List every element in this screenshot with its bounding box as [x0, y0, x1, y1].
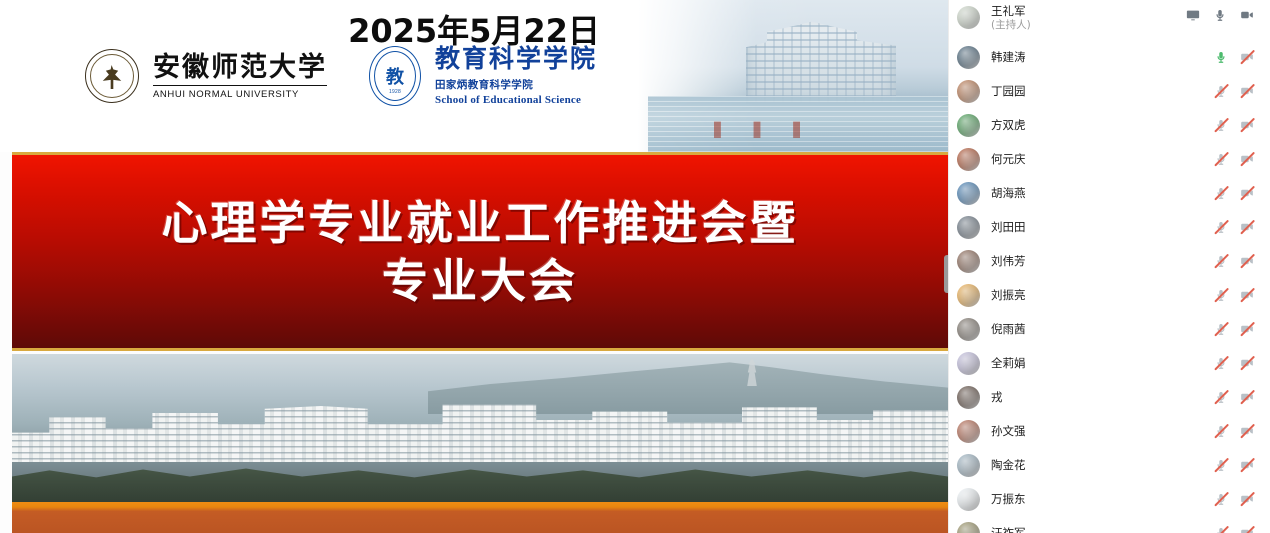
participant-controls — [1214, 220, 1254, 234]
microphone-icon[interactable] — [1214, 492, 1228, 506]
avatar — [957, 352, 980, 375]
video-camera-icon[interactable] — [1240, 526, 1254, 533]
participant-name-block: 全莉娟 — [991, 356, 1214, 370]
slide-date: 2025年5月22日 — [0, 6, 948, 52]
participant-name-block: 陶金花 — [991, 458, 1214, 472]
participant-name-block: 倪雨茜 — [991, 322, 1214, 336]
video-camera-icon[interactable] — [1240, 356, 1254, 370]
college-logo: 教 1928 教育科学学院 田家炳教育科学学院 School of Educat… — [369, 46, 597, 106]
microphone-icon[interactable] — [1214, 84, 1228, 98]
participant-name: 韩建涛 — [991, 50, 1214, 64]
participant-row[interactable]: 何元庆 — [949, 142, 1270, 176]
participant-row[interactable]: 陶金花 — [949, 448, 1270, 482]
participant-row[interactable]: 刘田田 — [949, 210, 1270, 244]
participant-controls — [1214, 152, 1254, 166]
participant-controls — [1214, 118, 1254, 132]
video-camera-icon[interactable] — [1240, 322, 1254, 336]
university-seal-icon — [85, 49, 139, 103]
participant-row[interactable]: 汪祚军 — [949, 516, 1270, 533]
avatar — [957, 420, 980, 443]
microphone-icon[interactable] — [1214, 356, 1228, 370]
video-camera-icon[interactable] — [1240, 220, 1254, 234]
meeting-screen: 安徽师范大学 ANHUI NORMAL UNIVERSITY 教 1928 教育… — [0, 0, 1270, 533]
microphone-icon[interactable] — [1214, 526, 1228, 533]
participant-name: 万振东 — [991, 492, 1214, 506]
participant-controls — [1186, 8, 1254, 22]
participant-row[interactable]: 孙文强 — [949, 414, 1270, 448]
university-name-cn: 安徽师范大学 — [153, 52, 327, 85]
participant-controls — [1214, 186, 1254, 200]
microphone-icon[interactable] — [1214, 288, 1228, 302]
participant-name-block: 方双虎 — [991, 118, 1214, 132]
avatar — [957, 80, 980, 103]
avatar — [957, 488, 980, 511]
microphone-icon[interactable] — [1214, 254, 1228, 268]
avatar — [957, 318, 980, 341]
avatar — [957, 454, 980, 477]
college-sub-cn: 田家炳教育科学学院 — [435, 77, 597, 92]
participant-name-block: 韩建涛 — [991, 50, 1214, 64]
video-camera-icon[interactable] — [1240, 118, 1254, 132]
participant-name: 王礼军 — [991, 4, 1186, 18]
participant-name: 胡海燕 — [991, 186, 1214, 200]
participant-row[interactable]: 刘伟芳 — [949, 244, 1270, 278]
participant-name-block: 刘田田 — [991, 220, 1214, 234]
participant-name: 何元庆 — [991, 152, 1214, 166]
avatar — [957, 386, 980, 409]
participant-row[interactable]: 胡海燕 — [949, 176, 1270, 210]
participant-row[interactable]: 戎 — [949, 380, 1270, 414]
microphone-icon[interactable] — [1214, 50, 1228, 64]
microphone-icon[interactable] — [1214, 118, 1228, 132]
participant-name: 孙文强 — [991, 424, 1214, 438]
collapse-panel-handle[interactable]: ‹ — [944, 255, 948, 293]
participant-name: 倪雨茜 — [991, 322, 1214, 336]
avatar — [957, 250, 980, 273]
participant-name-block: 孙文强 — [991, 424, 1214, 438]
college-seal-icon: 教 1928 — [369, 46, 421, 106]
participant-row[interactable]: 全莉娟 — [949, 346, 1270, 380]
video-camera-icon[interactable] — [1240, 254, 1254, 268]
microphone-icon[interactable] — [1214, 390, 1228, 404]
participant-name: 汪祚军 — [991, 526, 1214, 533]
video-camera-icon[interactable] — [1240, 424, 1254, 438]
avatar — [957, 6, 980, 29]
participant-name-block: 刘伟芳 — [991, 254, 1214, 268]
video-camera-icon[interactable] — [1240, 8, 1254, 22]
participant-controls — [1214, 424, 1254, 438]
avatar — [957, 46, 980, 69]
presentation-slide: 安徽师范大学 ANHUI NORMAL UNIVERSITY 教 1928 教育… — [0, 0, 948, 533]
participant-row[interactable]: 丁园园 — [949, 74, 1270, 108]
participant-name-block: 何元庆 — [991, 152, 1214, 166]
microphone-icon[interactable] — [1213, 8, 1227, 22]
participant-controls — [1214, 526, 1254, 533]
avatar — [957, 114, 980, 137]
slide-campus-photo — [12, 354, 948, 502]
participants-panel[interactable]: 王礼军(主持人)韩建涛丁园园方双虎何元庆胡海燕刘田田刘伟芳刘振亮倪雨茜全莉娟戎孙… — [948, 0, 1270, 533]
participant-row[interactable]: 刘振亮 — [949, 278, 1270, 312]
participant-controls — [1214, 322, 1254, 336]
participant-name-block: 王礼军(主持人) — [991, 4, 1186, 33]
share-screen-icon[interactable] — [1186, 8, 1200, 22]
avatar — [957, 284, 980, 307]
participant-name: 刘田田 — [991, 220, 1214, 234]
video-camera-icon[interactable] — [1240, 152, 1254, 166]
video-camera-icon[interactable] — [1240, 492, 1254, 506]
seal-emblem-icon — [101, 65, 123, 89]
shared-screen-stage[interactable]: 安徽师范大学 ANHUI NORMAL UNIVERSITY 教 1928 教育… — [0, 0, 948, 533]
video-camera-icon[interactable] — [1240, 50, 1254, 64]
college-seal-year: 1928 — [389, 89, 401, 95]
avatar — [957, 216, 980, 239]
video-camera-icon[interactable] — [1240, 186, 1254, 200]
microphone-icon[interactable] — [1214, 322, 1228, 336]
microphone-icon[interactable] — [1214, 424, 1228, 438]
participant-name: 刘伟芳 — [991, 254, 1214, 268]
participant-row[interactable]: 万振东 — [949, 482, 1270, 516]
video-camera-icon[interactable] — [1240, 458, 1254, 472]
participant-controls — [1214, 458, 1254, 472]
participant-name-block: 胡海燕 — [991, 186, 1214, 200]
participant-name-block: 汪祚军 — [991, 526, 1214, 533]
participant-controls — [1214, 288, 1254, 302]
video-camera-icon[interactable] — [1240, 84, 1254, 98]
college-name-en: School of Educational Science — [435, 94, 597, 106]
avatar — [957, 522, 980, 533]
campus-treeline — [12, 458, 948, 502]
microphone-icon[interactable] — [1214, 220, 1228, 234]
participant-controls — [1214, 254, 1254, 268]
microphone-icon[interactable] — [1214, 458, 1228, 472]
participant-controls — [1214, 84, 1254, 98]
university-logo: 安徽师范大学 ANHUI NORMAL UNIVERSITY — [85, 49, 327, 103]
participant-controls — [1214, 492, 1254, 506]
video-camera-icon[interactable] — [1240, 288, 1254, 302]
participant-controls — [1214, 50, 1254, 64]
microphone-icon[interactable] — [1214, 186, 1228, 200]
slide-title-line1: 心理学专业就业工作推进会暨 — [162, 200, 799, 246]
avatar — [957, 148, 980, 171]
participant-row[interactable]: 王礼军(主持人) — [949, 0, 1270, 40]
slide-title-line2: 专业大会 — [382, 258, 578, 304]
participant-name: 方双虎 — [991, 118, 1214, 132]
microphone-icon[interactable] — [1214, 152, 1228, 166]
video-camera-icon[interactable] — [1240, 390, 1254, 404]
participant-name: 丁园园 — [991, 84, 1214, 98]
participant-name-block: 丁园园 — [991, 84, 1214, 98]
participant-name: 刘振亮 — [991, 288, 1214, 302]
slide-title-banner: 心理学专业就业工作推进会暨 专业大会 — [12, 152, 948, 351]
participant-controls — [1214, 390, 1254, 404]
university-name-en: ANHUI NORMAL UNIVERSITY — [153, 89, 327, 100]
participant-row[interactable]: 倪雨茜 — [949, 312, 1270, 346]
college-seal-glyph: 教 — [384, 63, 406, 89]
participant-name-block: 万振东 — [991, 492, 1214, 506]
participant-role: (主持人) — [991, 19, 1186, 32]
participant-name: 全莉娟 — [991, 356, 1214, 370]
participant-name: 戎 — [991, 390, 1214, 404]
avatar — [957, 182, 980, 205]
participant-name-block: 刘振亮 — [991, 288, 1214, 302]
participant-name: 陶金花 — [991, 458, 1214, 472]
participant-controls — [1214, 356, 1254, 370]
participant-name-block: 戎 — [991, 390, 1214, 404]
slide-footer-bar — [12, 502, 948, 533]
participant-row[interactable]: 韩建涛 — [949, 40, 1270, 74]
participants-list[interactable]: 王礼军(主持人)韩建涛丁园园方双虎何元庆胡海燕刘田田刘伟芳刘振亮倪雨茜全莉娟戎孙… — [949, 0, 1270, 533]
participant-row[interactable]: 方双虎 — [949, 108, 1270, 142]
